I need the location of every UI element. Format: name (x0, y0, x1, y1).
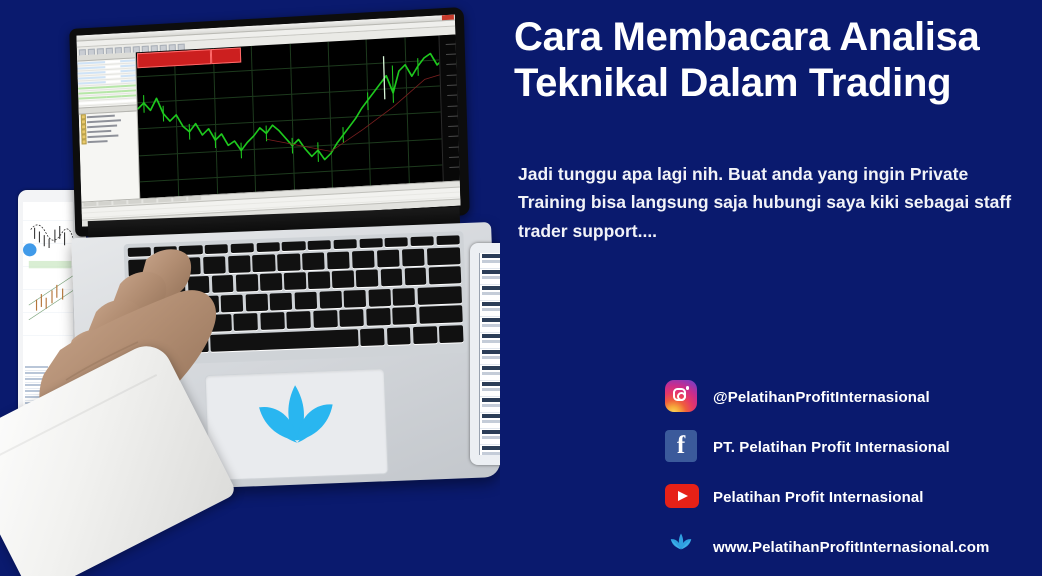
page-title: Cara Membacara Analisa Teknikal Dalam Tr… (514, 14, 1029, 107)
list-item (480, 285, 500, 301)
trading-platform-window (76, 14, 460, 226)
social-link-instagram[interactable]: @PelatihanProfitInternasional (665, 372, 1042, 422)
website-url: www.PelatihanProfitInternasional.com (713, 539, 989, 556)
instagram-icon[interactable] (665, 380, 699, 414)
list-item (480, 381, 500, 397)
price-chart[interactable] (136, 34, 460, 199)
facebook-icon[interactable]: f (665, 430, 699, 464)
social-link-facebook[interactable]: f PT. Pelatihan Profit Internasional (665, 422, 1042, 472)
platform-body (77, 34, 460, 202)
terminal-tab[interactable] (83, 202, 96, 207)
lotus-logo-icon[interactable] (665, 530, 699, 564)
list-item (480, 365, 500, 381)
terminal-tab[interactable] (188, 196, 201, 201)
list-item (480, 269, 500, 285)
facebook-glyph: f (665, 430, 697, 462)
list-item (480, 317, 500, 333)
hand-photo (0, 230, 320, 576)
list-item (480, 253, 500, 269)
text-column: Cara Membacara Analisa Teknikal Dalam Tr… (500, 0, 1042, 576)
laptop-lid (69, 7, 470, 237)
terminal-tab[interactable] (158, 198, 171, 203)
price-scale (438, 34, 459, 182)
list-item (480, 333, 500, 349)
market-watch-panel[interactable] (77, 52, 140, 202)
terminal-tab[interactable] (143, 198, 156, 203)
facebook-page-name: PT. Pelatihan Profit Internasional (713, 439, 950, 456)
instagram-handle: @PelatihanProfitInternasional (713, 389, 930, 406)
list-item (480, 429, 500, 445)
youtube-channel-name: Pelatihan Profit Internasional (713, 489, 924, 506)
terminal-tab[interactable] (128, 199, 141, 204)
terminal-tab[interactable] (173, 197, 186, 202)
list-item (480, 413, 500, 429)
social-link-website[interactable]: www.PelatihanProfitInternasional.com (665, 522, 1042, 572)
list-item (480, 445, 500, 455)
chart-alert-tag-secondary (211, 47, 241, 64)
youtube-icon[interactable] (665, 480, 699, 514)
terminal-tab[interactable] (98, 201, 111, 206)
close-icon[interactable] (442, 15, 454, 21)
list-item (480, 397, 500, 413)
social-links: @PelatihanProfitInternasional f PT. Pela… (665, 372, 1042, 572)
promo-photo (0, 0, 500, 576)
folder-icon (82, 139, 87, 144)
list-item (480, 349, 500, 365)
phone-screen (479, 253, 500, 455)
laptop-screen (76, 14, 460, 226)
social-link-youtube[interactable]: Pelatihan Profit Internasional (665, 472, 1042, 522)
terminal-tab[interactable] (113, 200, 126, 205)
poster-root: Cara Membacara Analisa Teknikal Dalam Tr… (0, 0, 1042, 576)
list-item (480, 301, 500, 317)
page-subtitle: Jadi tunggu apa lagi nih. Buat anda yang… (518, 160, 1023, 245)
phone-device (470, 243, 500, 465)
